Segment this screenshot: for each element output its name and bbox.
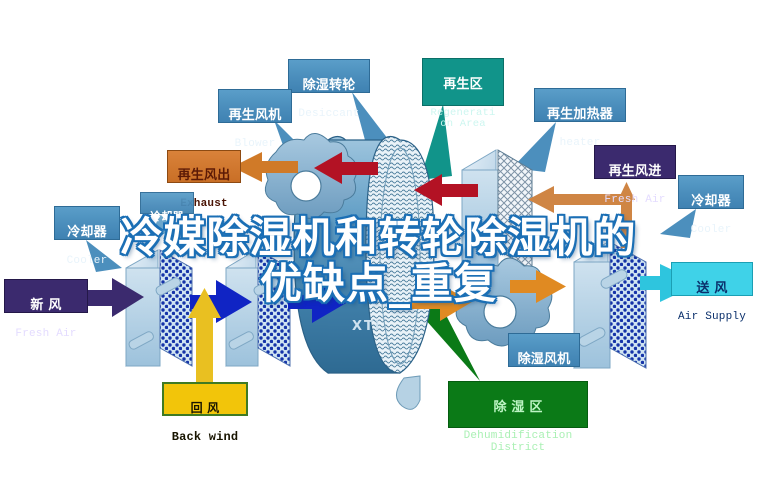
label-regen-blower: 再生风机 Blower xyxy=(218,89,292,123)
label-regen-exhaust: 再生风出 Exhaust xyxy=(167,150,241,183)
label-dehumid-blower: 除湿风机 Blower xyxy=(508,333,580,367)
diagram-canvas: XTi xyxy=(0,0,757,488)
regen-heater-coil xyxy=(462,150,532,270)
label-regen-heater: 再生加热器 heater xyxy=(534,88,626,122)
label-dehumid-district: 除 湿 区 Dehumidification District xyxy=(448,381,588,428)
label-air-supply: 送 风 Air Supply xyxy=(671,262,753,296)
label-fresh-air-inlet: 新 风 Fresh Air xyxy=(4,279,88,313)
label-desiccant-wheel: 除湿转轮 Desiccant xyxy=(288,59,370,93)
label-cooler-left-1: 冷却器 Cooler xyxy=(54,206,120,240)
label-back-wind: 回 风 Back wind xyxy=(162,382,248,416)
label-cooler-left-2: 冷却器 xyxy=(140,192,194,214)
cooler-coil-3 xyxy=(574,242,646,368)
label-regeneration-area: 再生区 Regenerati on Area xyxy=(422,58,504,106)
cooler-coil-1 xyxy=(126,250,192,366)
label-regen-fresh-air: 再生风进 Fresh Air xyxy=(594,145,676,179)
watermark-text: XTi xyxy=(352,319,381,334)
label-cooler-right: 冷却器 Cooler xyxy=(678,175,744,209)
